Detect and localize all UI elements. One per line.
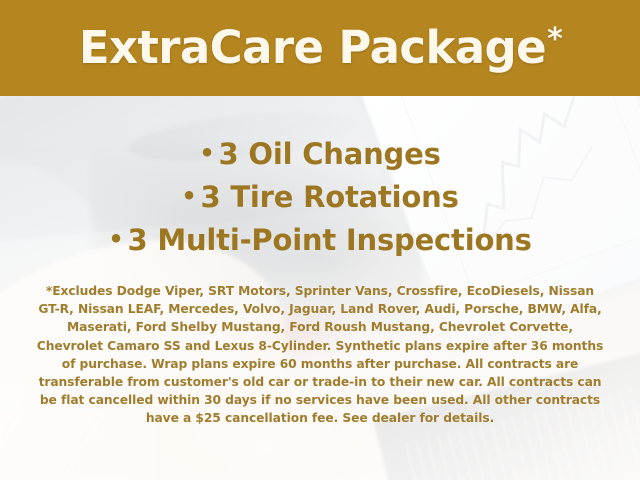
benefit-label: 3 Oil Changes [219,137,441,171]
bullet-icon: • [108,225,123,253]
header-bar: ExtraCare Package* [0,0,640,96]
page-title: ExtraCare Package* [79,25,561,70]
page-title-text: ExtraCare Package [79,21,546,74]
bullet-icon: • [199,139,214,167]
benefit-label: 3 Tire Rotations [200,180,458,214]
bullet-icon: • [181,182,196,210]
benefit-item: •3 Oil Changes [0,134,640,177]
page-title-asterisk: * [547,22,562,57]
disclaimer-text: *Excludes Dodge Viper, SRT Motors, Sprin… [34,282,606,428]
ad-content: •3 Oil Changes •3 Tire Rotations •3 Mult… [0,96,640,480]
benefit-item: •3 Multi-Point Inspections [0,220,640,263]
benefits-list: •3 Oil Changes •3 Tire Rotations •3 Mult… [0,134,640,263]
extracare-package-ad: ExtraCare Package* •3 Oil Changes •3 Tir… [0,0,640,480]
benefit-label: 3 Multi-Point Inspections [127,223,531,257]
benefit-item: •3 Tire Rotations [0,177,640,220]
